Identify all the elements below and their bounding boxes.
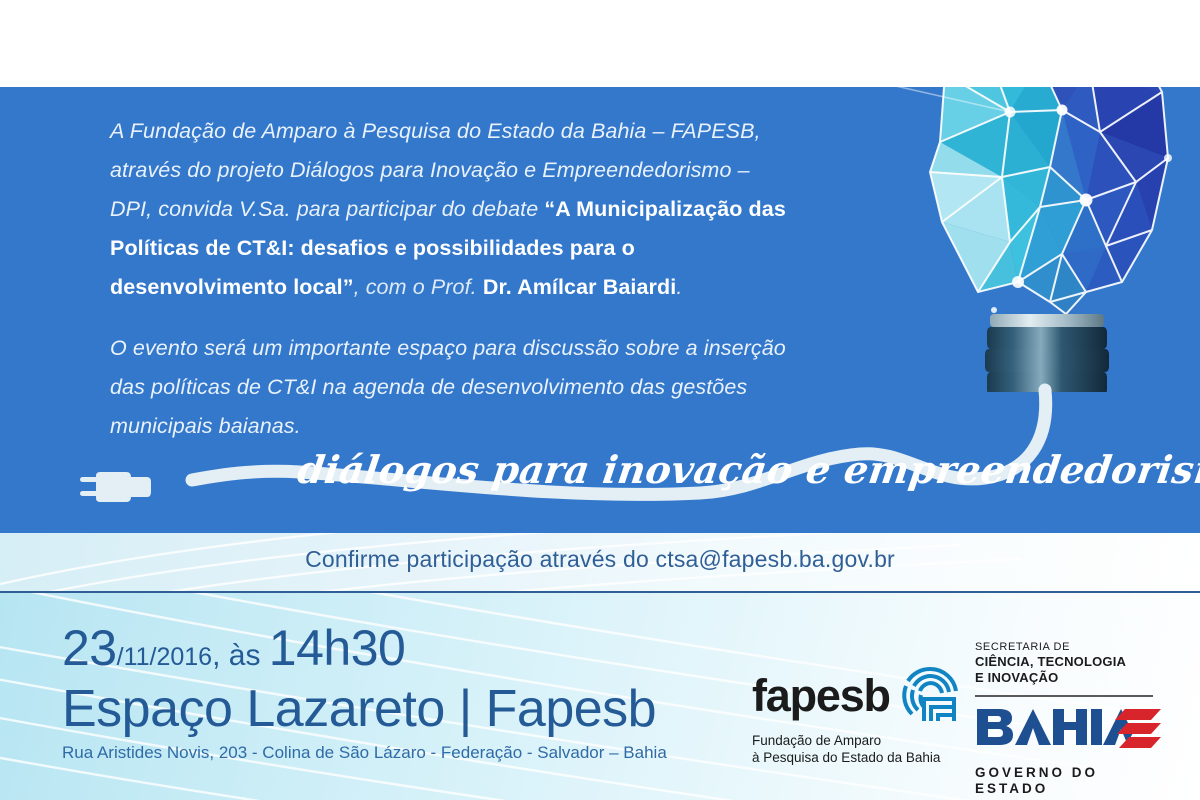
- event-datetime: 23/11/2016, às 14h30: [62, 624, 667, 681]
- event-day: 23: [62, 620, 117, 676]
- invitation-body: A Fundação de Amparo à Pesquisa do Estad…: [110, 112, 790, 446]
- tagline-text: diálogos para inovação e empreendedorism…: [295, 448, 1041, 492]
- event-at-label: , às: [212, 639, 269, 672]
- event-time: 14h30: [269, 620, 406, 676]
- event-month-year: /11/2016: [117, 643, 212, 671]
- secretariat-line1: SECRETARIA DE: [975, 640, 1175, 654]
- event-venue: Espaço Lazareto | Fapesb: [62, 679, 667, 739]
- event-details: 23/11/2016, às 14h30 Espaço Lazareto | F…: [62, 624, 667, 765]
- top-band-bulb-veil: [880, 0, 1200, 87]
- project-tagline: diálogos para inovação e empreendedorism…: [60, 430, 1150, 535]
- bahia-state-government-icon: [975, 707, 1161, 759]
- fapesb-tagline-line2: à Pesquisa do Estado da Bahia: [752, 749, 962, 766]
- secretariat-line2: CIÊNCIA, TECNOLOGIA: [975, 654, 1175, 670]
- section-divider-rule: [0, 591, 1200, 593]
- bahia-government-logo[interactable]: SECRETARIA DE CIÊNCIA, TECNOLOGIA E INOV…: [975, 640, 1175, 797]
- paragraph-1: A Fundação de Amparo à Pesquisa do Estad…: [110, 112, 790, 307]
- speaker-name: Dr. Amílcar Baiardi: [483, 275, 677, 299]
- power-plug-icon: [80, 464, 170, 510]
- invitation-poster: A Fundação de Amparo à Pesquisa do Estad…: [0, 0, 1200, 800]
- paragraph-1-period: .: [676, 275, 682, 299]
- confirm-text[interactable]: Confirme participação através do ctsa@fa…: [0, 546, 1200, 573]
- fapesb-pinwheel-icon: [900, 664, 962, 726]
- fapesb-tagline-line1: Fundação de Amparo: [752, 732, 962, 749]
- event-address: Rua Aristides Novis, 203 - Colina de São…: [62, 741, 667, 765]
- fapesb-wordmark: fapesb: [752, 673, 890, 718]
- secretariat-line3: E INOVAÇÃO: [975, 670, 1175, 686]
- paragraph-1-connector: , com o Prof.: [354, 275, 483, 299]
- logo-divider: [975, 695, 1153, 697]
- paragraph-2: O evento será um importante espaço para …: [110, 329, 790, 446]
- government-label: GOVERNO DO ESTADO: [975, 765, 1175, 797]
- fapesb-logo[interactable]: fapesb: [752, 664, 962, 766]
